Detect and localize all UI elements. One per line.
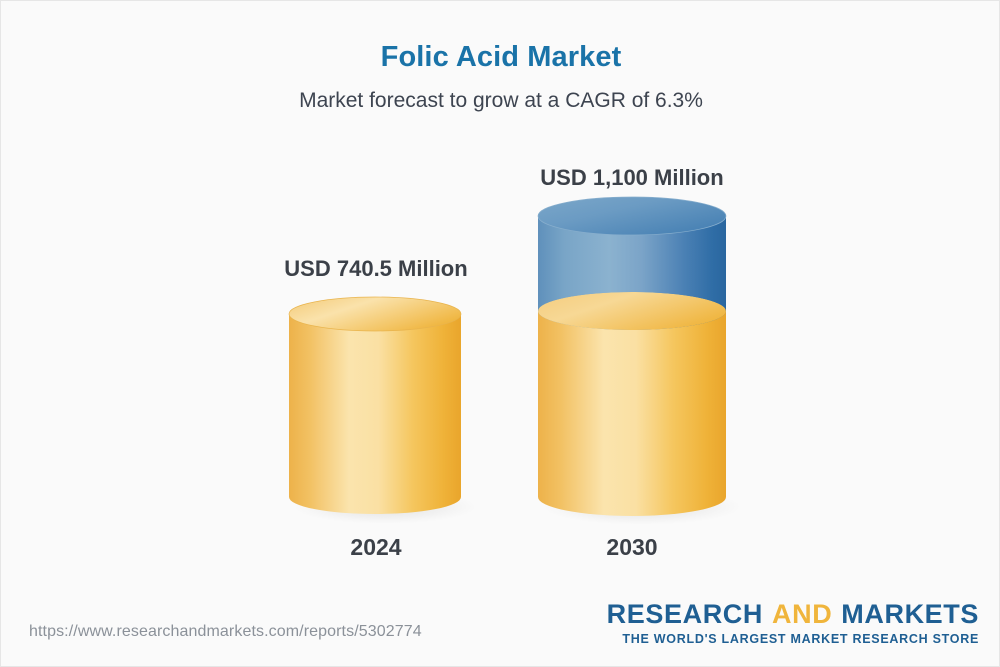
brand-logo[interactable]: RESEARCHANDMARKETS THE WORLD'S LARGEST M… [607, 601, 979, 646]
source-url[interactable]: https://www.researchandmarkets.com/repor… [29, 623, 422, 641]
bar-cylinder-2030 [530, 195, 742, 527]
value-label-2030: USD 1,100 Million [522, 165, 742, 191]
page-title: Folic Acid Market [1, 41, 1000, 74]
bar-top-2024 [289, 297, 461, 331]
bar-segment-base-2030 [538, 311, 726, 516]
value-label-2024: USD 740.5 Million [276, 256, 476, 282]
chart-canvas: Folic Acid Market Market forecast to gro… [0, 0, 1000, 667]
category-label-2024: 2024 [276, 534, 476, 561]
bar-segment-divider-2030 [538, 292, 726, 330]
chart-subtitle: Market forecast to grow at a CAGR of 6.3… [1, 89, 1000, 113]
brand-word-and: AND [772, 599, 832, 629]
category-label-2030: 2030 [522, 534, 742, 561]
brand-logo-wordmark: RESEARCHANDMARKETS [607, 601, 979, 628]
brand-word-markets: MARKETS [841, 599, 979, 629]
bar-body-2024 [289, 314, 461, 514]
bar-top-2030 [538, 197, 726, 235]
brand-tagline: THE WORLD'S LARGEST MARKET RESEARCH STOR… [607, 632, 979, 646]
bar-cylinder-2024 [283, 295, 475, 527]
brand-word-research: RESEARCH [607, 599, 763, 629]
